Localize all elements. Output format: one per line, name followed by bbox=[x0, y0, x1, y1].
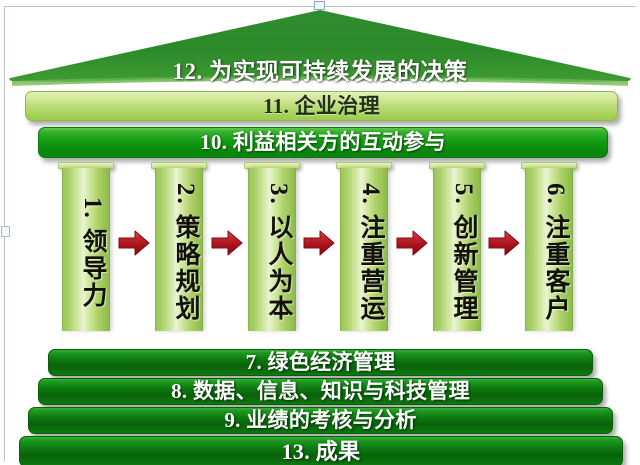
right-arrow-icon bbox=[395, 228, 429, 258]
column-1-shaft bbox=[62, 168, 110, 331]
column-4-shaft bbox=[340, 168, 388, 331]
arrow-3[interactable] bbox=[302, 228, 336, 258]
band-9-label: 9. 业绩的考核与分析 bbox=[224, 410, 416, 431]
band-9-performance-review-analysis[interactable]: 9. 业绩的考核与分析 bbox=[28, 407, 613, 434]
right-arrow-icon bbox=[302, 228, 336, 258]
column-5-shaft bbox=[433, 168, 481, 331]
band-8-data-information-knowledge-technology[interactable]: 8. 数据、信息、知识与科技管理 bbox=[38, 378, 603, 405]
band-7-label: 7. 绿色经济管理 bbox=[246, 352, 396, 373]
band-8-label: 8. 数据、信息、知识与科技管理 bbox=[171, 381, 470, 402]
column-6-shaft bbox=[525, 168, 573, 331]
arrow-1[interactable] bbox=[117, 228, 151, 258]
arrow-5[interactable] bbox=[487, 228, 521, 258]
right-arrow-icon bbox=[487, 228, 521, 258]
right-arrow-icon bbox=[117, 228, 151, 258]
slide-canvas: 12. 为实现可持续发展的决策 11. 企业治理 10. 利益相关方的互动参与 … bbox=[0, 0, 640, 465]
arrow-4[interactable] bbox=[395, 228, 429, 258]
band-7-green-economy-management[interactable]: 7. 绿色经济管理 bbox=[48, 349, 593, 376]
arrow-2[interactable] bbox=[210, 228, 244, 258]
band-13-results[interactable]: 13. 成果 bbox=[19, 436, 623, 465]
band-13-label: 13. 成果 bbox=[282, 441, 361, 463]
right-arrow-icon bbox=[210, 228, 244, 258]
column-3-shaft bbox=[248, 168, 296, 331]
column-2-shaft bbox=[155, 168, 203, 331]
